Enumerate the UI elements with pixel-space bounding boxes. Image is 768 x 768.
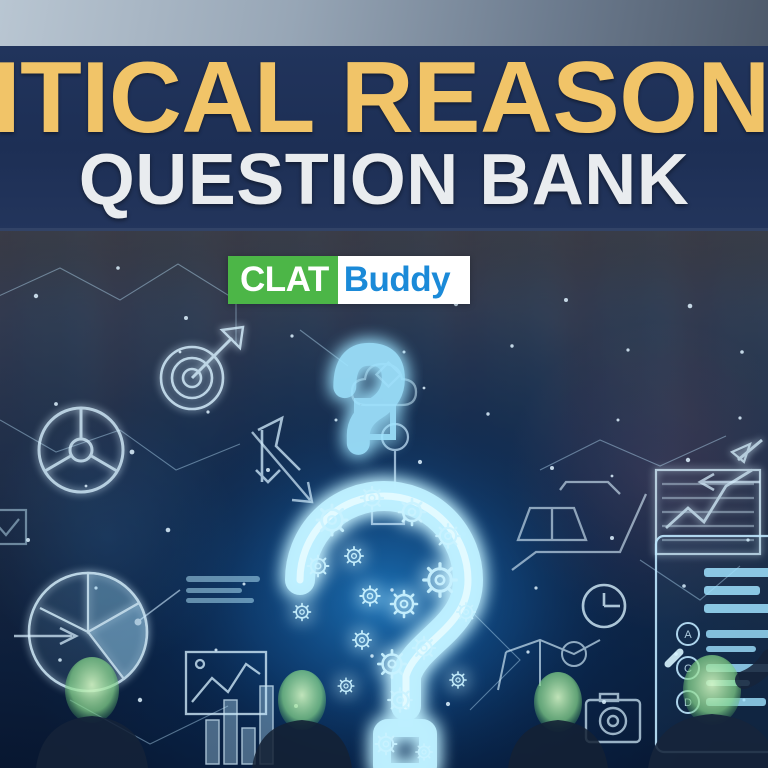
brand-logo-clat: CLAT [228,256,338,304]
header-band: CRITICAL REASONNG QUESTION BANK [0,46,768,231]
brand-logo[interactable]: CLAT Buddy [228,256,470,304]
poster-canvas: A C D [0,0,768,768]
page-title-line2: QUESTION BANK [0,144,768,216]
top-gradient-strip [0,0,768,46]
page-title-line1: CRITICAL REASONNG [0,48,768,149]
brand-logo-buddy: Buddy [338,256,470,304]
